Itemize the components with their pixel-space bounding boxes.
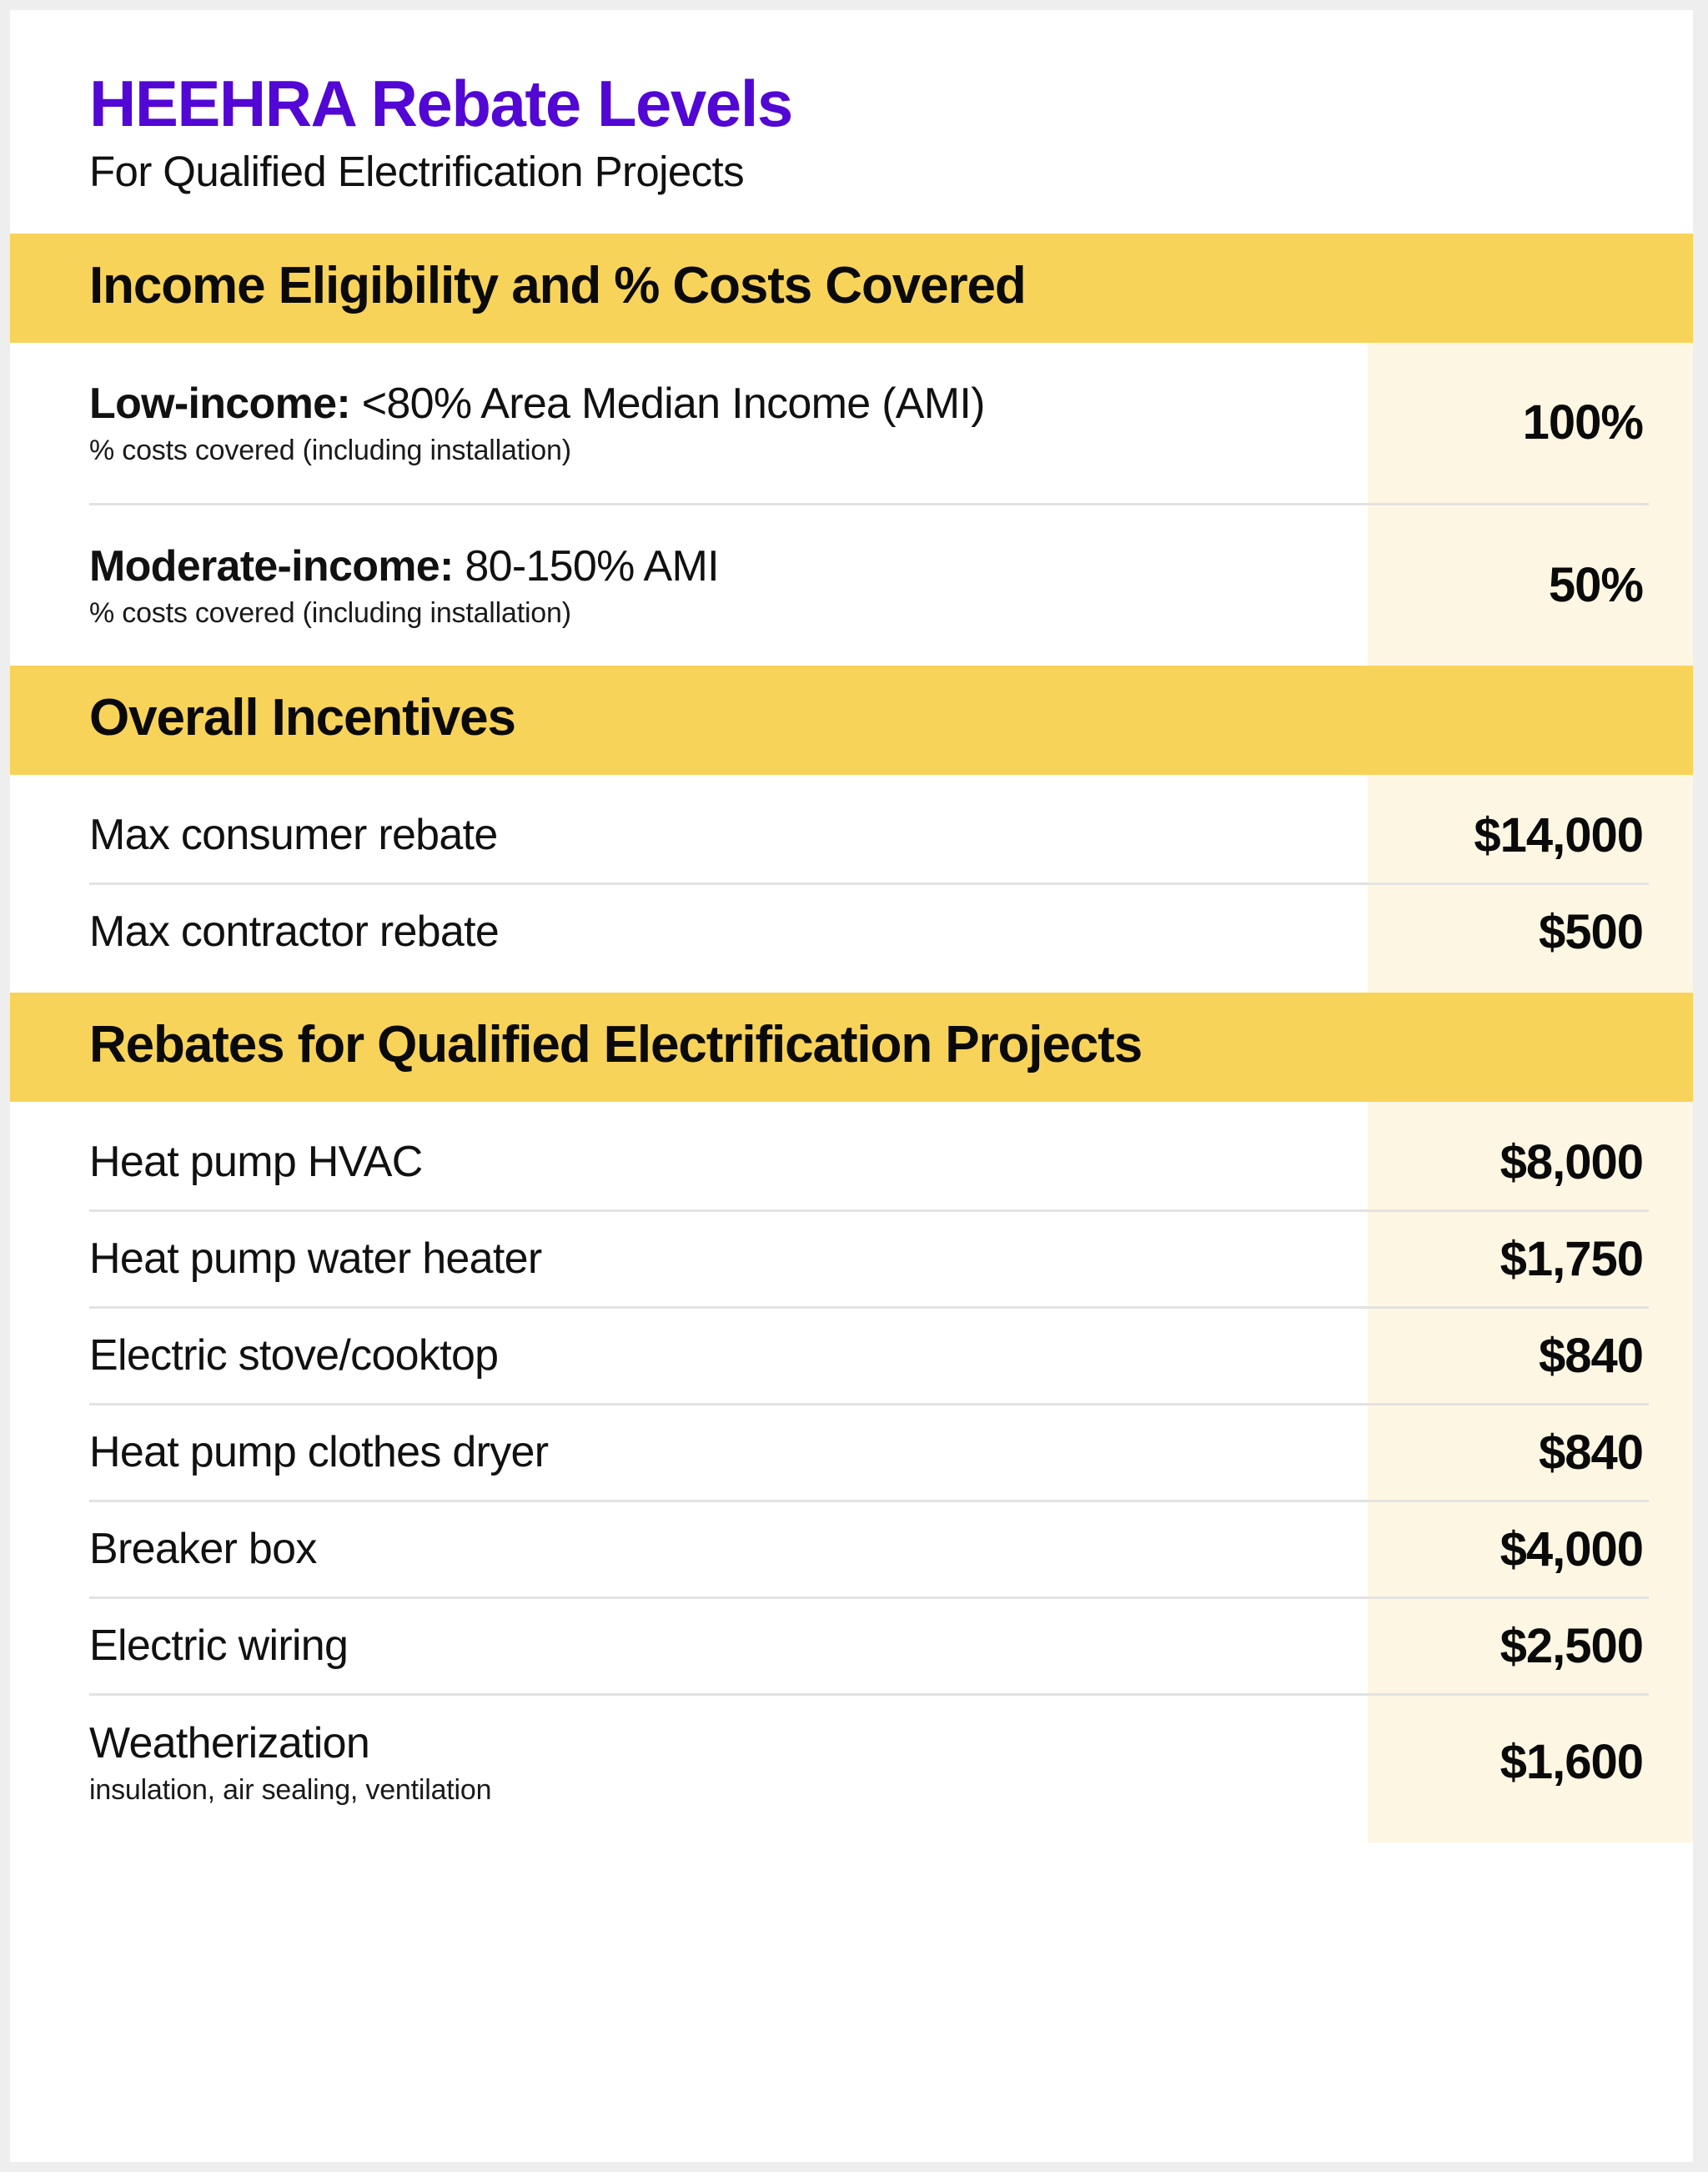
row-sublabel: % costs covered (including installation) [89,434,1503,468]
row-spacer [10,652,1693,666]
page-header: HEEHRA Rebate Levels For Qualified Elect… [10,10,1693,234]
row-label-group: Weatherization insulation, air sealing, … [89,1718,1500,1807]
section-heading-label: Overall Incentives [89,691,1693,747]
row-divider [89,1500,1649,1502]
section-rows-overall-incentives: Max consumer rebate $14,000 Max contract… [10,775,1693,993]
row-value: $1,600 [1500,1736,1643,1789]
row-label-group: Max contractor rebate [89,907,1539,957]
row-value: $500 [1539,906,1643,959]
row-label: Heat pump water heater [89,1234,1480,1284]
section-heading-label: Rebates for Qualified Electrification Pr… [89,1018,1693,1073]
section-header-qualified-electrification-rebates: Rebates for Qualified Electrification Pr… [10,993,1693,1102]
row-label-group: Breaker box [89,1524,1500,1574]
row-value: $8,000 [1500,1136,1643,1189]
row-value: 100% [1523,396,1643,450]
row-value: $2,500 [1500,1620,1643,1673]
row-divider [89,1693,1649,1696]
row-sublabel: insulation, air sealing, ventilation [89,1773,1480,1807]
rebate-table-card: HEEHRA Rebate Levels For Qualified Elect… [10,10,1693,2162]
row-spacer [10,505,1693,519]
table-row: Heat pump HVAC $8,000 [10,1115,1693,1209]
row-label-rest: Weatherization [89,1719,369,1767]
page-title: HEEHRA Rebate Levels [89,70,1693,138]
row-spacer [10,343,1693,356]
row-spacer [10,1829,1693,1843]
row-spacer [10,490,1693,503]
section-heading-label: Income Eligibility and % Costs Covered [89,259,1693,314]
row-divider [89,882,1649,885]
row-label-rest: Max consumer rebate [89,811,498,859]
table-row: Heat pump clothes dryer $840 [10,1405,1693,1500]
row-divider [89,1596,1649,1599]
row-label-group: Max consumer rebate [89,810,1474,860]
row-label-group: Heat pump water heater [89,1234,1500,1284]
table-row: Breaker box $4,000 [10,1502,1693,1596]
row-label-rest: Heat pump clothes dryer [89,1428,548,1476]
row-label: Low-income: <80% Area Median Income (AMI… [89,379,1503,429]
row-label: Weatherization [89,1718,1480,1768]
row-label-strong: Moderate-income: [89,542,454,591]
section-rows-income-eligibility: Low-income: <80% Area Median Income (AMI… [10,343,1693,666]
row-value: $14,000 [1474,809,1643,862]
row-label-rest: Max contractor rebate [89,908,499,956]
row-divider [89,1209,1649,1212]
row-value: $1,750 [1500,1233,1643,1286]
row-value: $840 [1539,1330,1643,1383]
row-label: Max contractor rebate [89,907,1519,957]
row-label-strong: Low-income: [89,380,350,428]
table-row: Max consumer rebate $14,000 [10,788,1693,882]
row-label-rest: Heat pump water heater [89,1234,541,1283]
row-spacer [10,979,1693,993]
table-row: Electric stove/cooktop $840 [10,1309,1693,1403]
row-spacer [10,1102,1693,1115]
table-row: Max contractor rebate $500 [10,885,1693,979]
table-row: Low-income: <80% Area Median Income (AMI… [10,356,1693,490]
section-header-income-eligibility: Income Eligibility and % Costs Covered [10,234,1693,343]
row-sublabel: % costs covered (including installation) [89,596,1529,631]
row-label-group: Heat pump clothes dryer [89,1427,1539,1477]
row-label-rest: Heat pump HVAC [89,1138,423,1186]
row-divider [89,503,1649,505]
row-label-group: Heat pump HVAC [89,1137,1500,1187]
row-divider [89,1403,1649,1405]
table-row: Electric wiring $2,500 [10,1599,1693,1693]
row-label: Electric wiring [89,1621,1480,1671]
row-value: $840 [1539,1426,1643,1480]
row-label: Breaker box [89,1524,1480,1574]
row-label: Moderate-income: 80-150% AMI [89,541,1529,591]
row-label: Heat pump HVAC [89,1137,1480,1187]
table-row: Weatherization insulation, air sealing, … [10,1696,1693,1829]
row-value: $4,000 [1500,1523,1643,1576]
row-spacer [10,775,1693,788]
row-label-rest: Breaker box [89,1525,317,1573]
row-label: Heat pump clothes dryer [89,1427,1519,1477]
row-label-group: Electric stove/cooktop [89,1330,1539,1380]
table-row: Moderate-income: 80-150% AMI % costs cov… [10,519,1693,652]
row-label-rest: Electric stove/cooktop [89,1331,498,1380]
row-label: Electric stove/cooktop [89,1330,1519,1380]
row-label: Max consumer rebate [89,810,1454,860]
row-value: 50% [1549,559,1643,612]
row-label-rest: <80% Area Median Income (AMI) [350,380,985,428]
row-label-rest: 80-150% AMI [454,542,719,591]
table-row: Heat pump water heater $1,750 [10,1212,1693,1306]
section-header-overall-incentives: Overall Incentives [10,666,1693,775]
row-label-group: Moderate-income: 80-150% AMI % costs cov… [89,541,1549,631]
row-divider [89,1306,1649,1309]
section-rows-qualified-electrification-rebates: Heat pump HVAC $8,000 Heat pump water he… [10,1102,1693,1843]
page-subtitle: For Qualified Electrification Projects [89,148,1693,195]
row-label-rest: Electric wiring [89,1621,348,1670]
row-label-group: Low-income: <80% Area Median Income (AMI… [89,379,1523,468]
row-label-group: Electric wiring [89,1621,1500,1671]
